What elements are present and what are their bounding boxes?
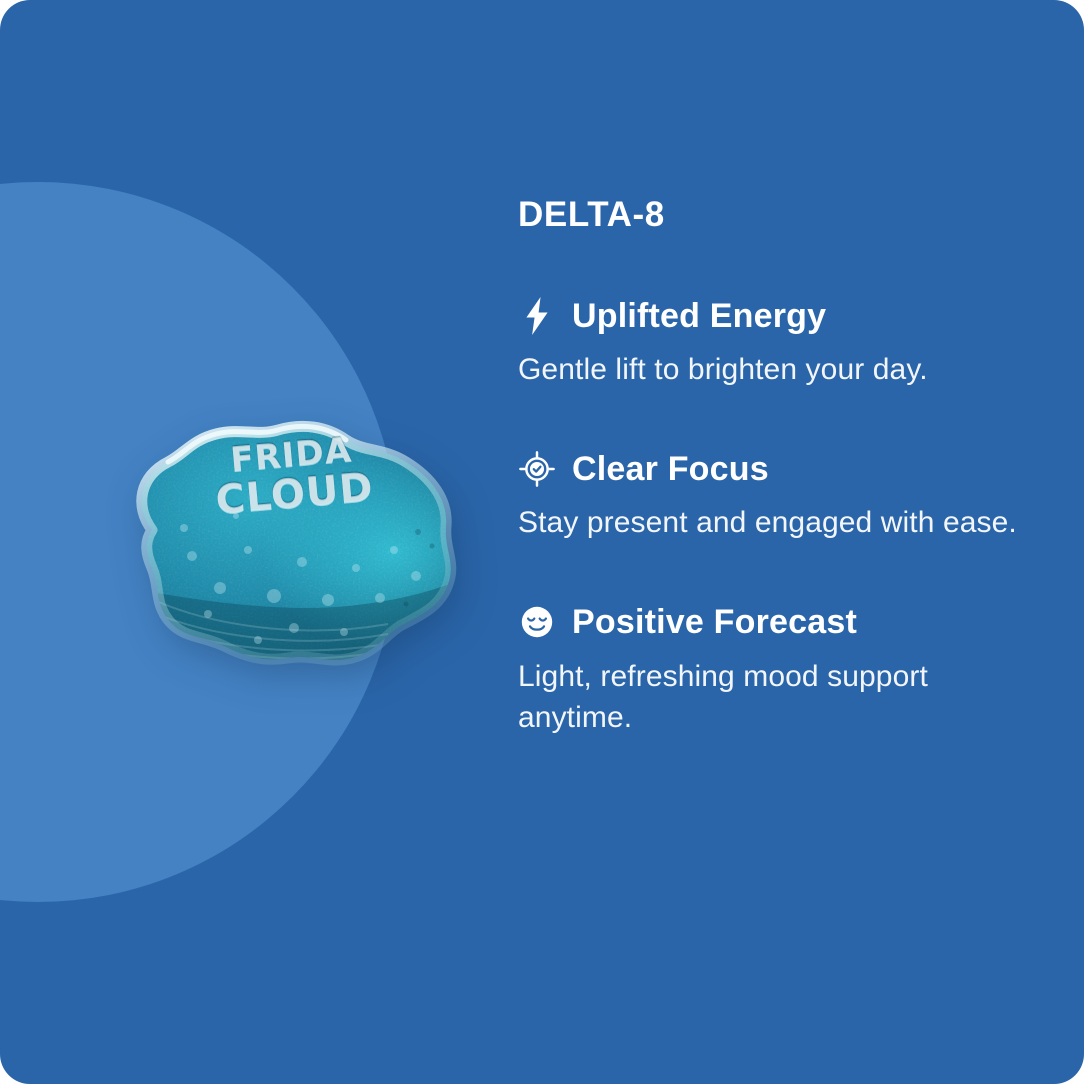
target-check-icon — [518, 450, 556, 488]
feature-description: Light, refreshing mood support anytime. — [518, 656, 1018, 739]
content-column: DELTA-8 Uplifted Energy Gentle lift to b… — [518, 196, 1018, 738]
feature-block: Positive Forecast Light, refreshing mood… — [518, 603, 1018, 738]
feature-title: Uplifted Energy — [572, 297, 826, 335]
gummy-shape-svg — [88, 400, 480, 692]
feature-heading: Positive Forecast — [518, 603, 1018, 641]
feature-title: Clear Focus — [572, 450, 769, 488]
gummy-product-image: FRIDA CLOUD — [88, 400, 480, 692]
product-benefits-card: FRIDA CLOUD DELTA-8 Uplifted Energy Gent… — [0, 0, 1084, 1084]
page-title: DELTA-8 — [518, 196, 1018, 235]
feature-block: Uplifted Energy Gentle lift to brighten … — [518, 297, 1018, 390]
feature-heading: Clear Focus — [518, 450, 1018, 488]
relieved-face-icon — [518, 603, 556, 641]
lightning-bolt-icon — [518, 297, 556, 335]
feature-description: Stay present and engaged with ease. — [518, 502, 1018, 543]
product-image-area: FRIDA CLOUD — [0, 380, 500, 720]
feature-block: Clear Focus Stay present and engaged wit… — [518, 450, 1018, 543]
feature-heading: Uplifted Energy — [518, 297, 1018, 335]
feature-description: Gentle lift to brighten your day. — [518, 349, 1018, 390]
feature-title: Positive Forecast — [572, 603, 857, 641]
